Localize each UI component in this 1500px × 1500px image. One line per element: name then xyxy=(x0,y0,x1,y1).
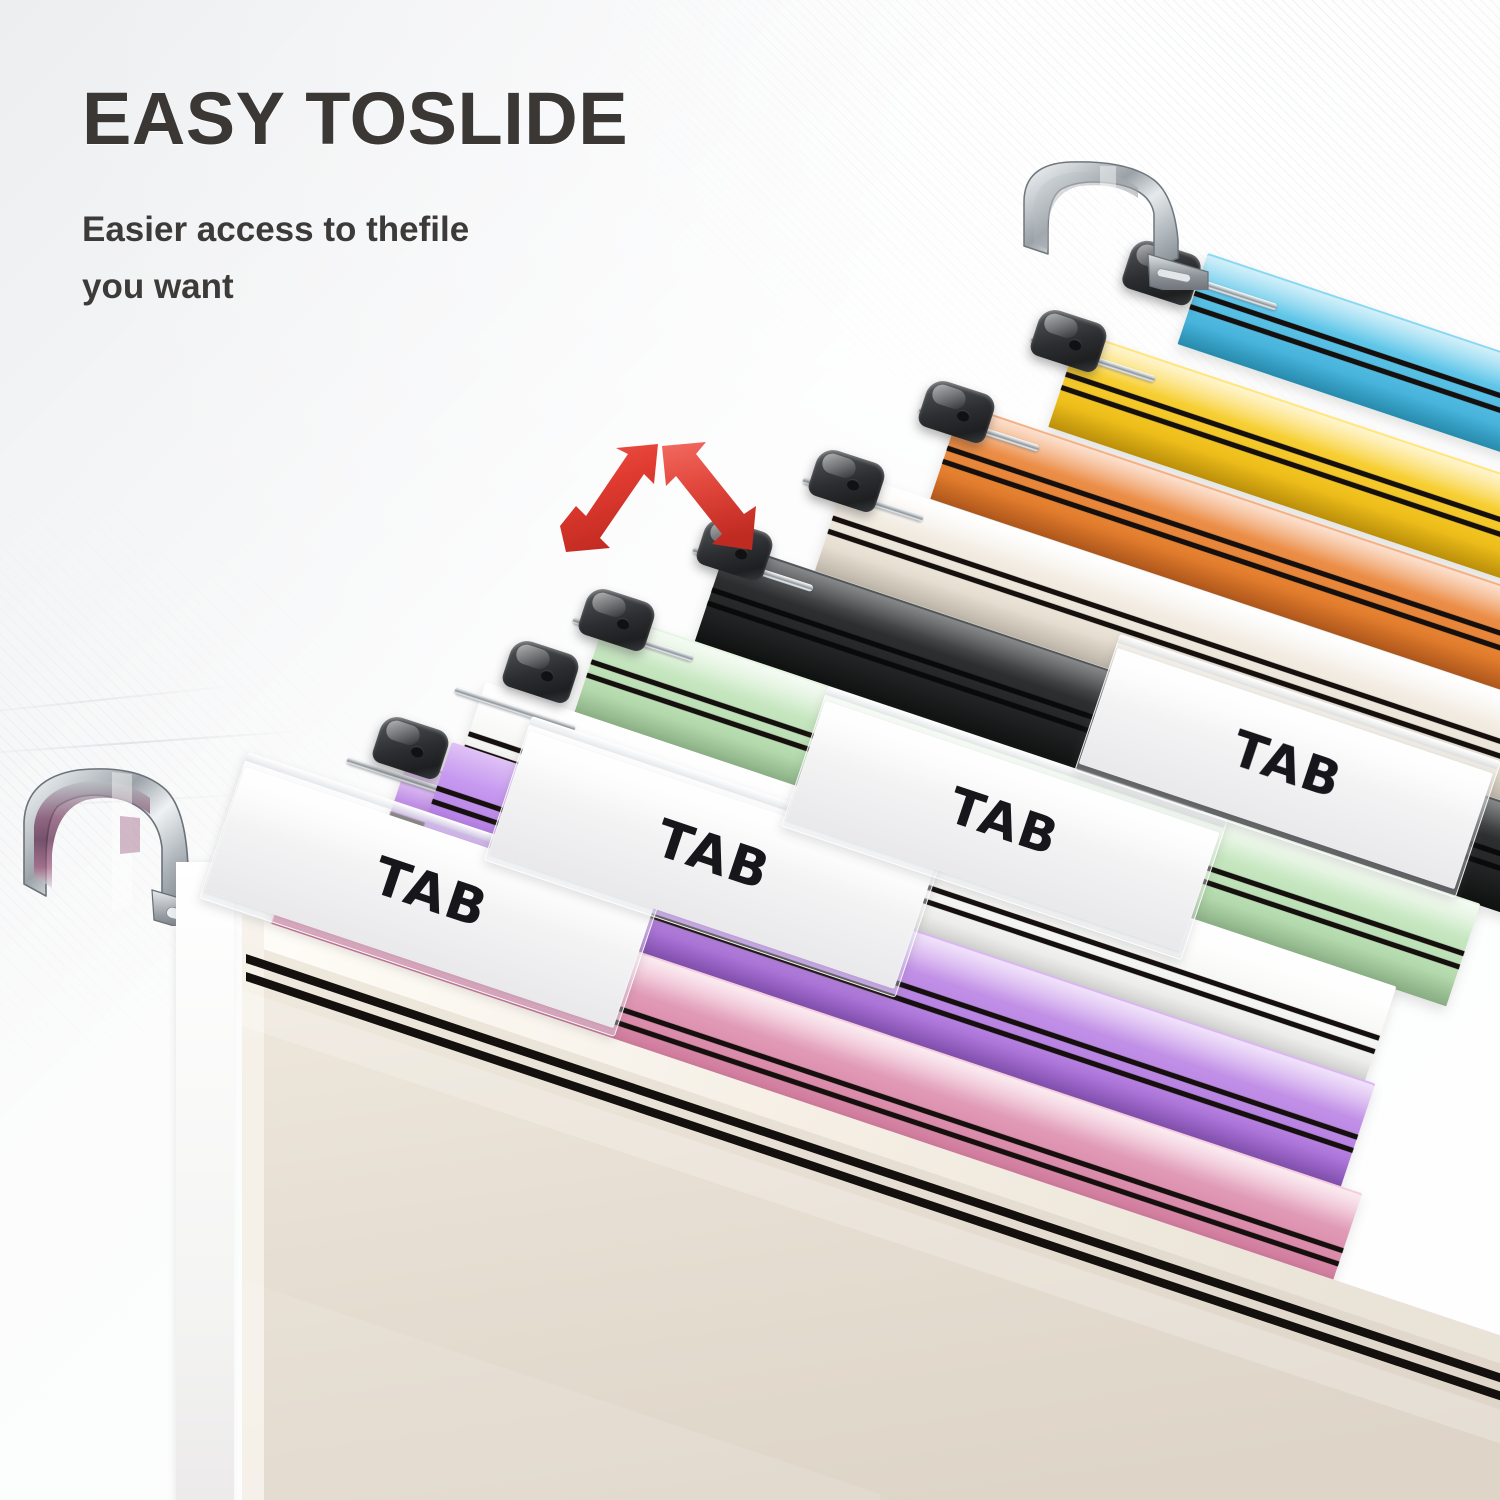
product-image-stage: EASY TOSLIDE Easier access to thefile yo… xyxy=(0,0,1500,1500)
subheadline-line-2: you want xyxy=(82,259,802,316)
page-title: EASY TOSLIDE xyxy=(82,82,802,156)
cream-folder-clip xyxy=(806,445,888,514)
orange-clip-body xyxy=(916,376,998,445)
yellow-clip-body xyxy=(1028,305,1110,374)
subheadline-line-1: Easier access to thefile xyxy=(82,202,802,259)
subheadline: Easier access to thefile you want xyxy=(82,156,802,315)
orange-folder-clip xyxy=(916,376,998,445)
slide-direction-arrows xyxy=(556,440,766,570)
green-folder-clip xyxy=(576,584,658,653)
cream-clip-body xyxy=(806,445,888,514)
yellow-folder-clip xyxy=(1028,305,1110,374)
rail-hook-top-right xyxy=(1008,150,1218,290)
arrow-down-right xyxy=(662,442,756,550)
arrow-up-right xyxy=(560,444,658,552)
marketing-copy-block: EASY TOSLIDE Easier access to thefile yo… xyxy=(82,82,802,315)
green-clip-body xyxy=(576,584,658,653)
